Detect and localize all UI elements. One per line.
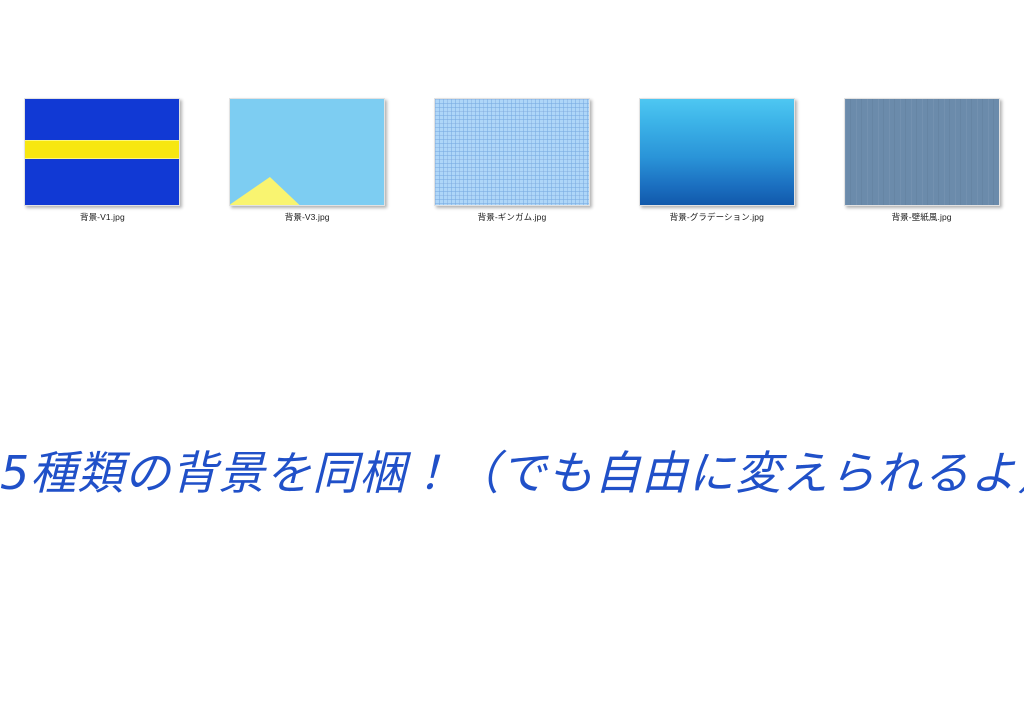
background-thumbnail-strip: 背景-V1.jpg 背景-V3.jpg 背景-ギンガム.jpg 背景-グラデーシ… <box>0 98 1024 233</box>
thumbnail-item-3[interactable]: 背景-ギンガム.jpg <box>410 98 615 223</box>
thumbnail-item-5[interactable]: 背景-壁紙風.jpg <box>819 98 1024 223</box>
thumbnail-caption-3: 背景-ギンガム.jpg <box>478 212 547 223</box>
thumbnail-image-frame-5[interactable] <box>844 98 1000 206</box>
thumbnail-image-frame-2[interactable] <box>229 98 385 206</box>
thumbnail-image-frame-4[interactable] <box>639 98 795 206</box>
thumbnail-art-lightblue-yellow-corner-triangle <box>230 99 384 205</box>
thumbnail-caption-5: 背景-壁紙風.jpg <box>892 212 952 223</box>
thumbnail-item-4[interactable]: 背景-グラデーション.jpg <box>614 98 819 223</box>
slide-canvas: { "slide": { "headline": "5種類の背景を同梱！（でも自… <box>0 0 1024 709</box>
thumbnail-art-wallpaper-vertical-stripe <box>845 99 999 205</box>
slide-headline: 5種類の背景を同梱！（でも自由に変えられるよ） <box>0 441 1024 505</box>
thumbnail-art-gingham-check <box>435 99 589 205</box>
thumbnail-art-flag-blue-yellow-band <box>25 99 179 205</box>
thumbnail-caption-4: 背景-グラデーション.jpg <box>670 212 764 223</box>
thumbnail-item-1[interactable]: 背景-V1.jpg <box>0 98 205 223</box>
yellow-band <box>25 140 179 160</box>
thumbnail-image-frame-1[interactable] <box>24 98 180 206</box>
thumbnail-item-2[interactable]: 背景-V3.jpg <box>205 98 410 223</box>
thumbnail-caption-2: 背景-V3.jpg <box>285 212 330 223</box>
thumbnail-caption-1: 背景-V1.jpg <box>80 212 125 223</box>
yellow-triangle <box>230 99 384 205</box>
thumbnail-image-frame-3[interactable] <box>434 98 590 206</box>
thumbnail-art-vertical-gradient <box>640 99 794 205</box>
